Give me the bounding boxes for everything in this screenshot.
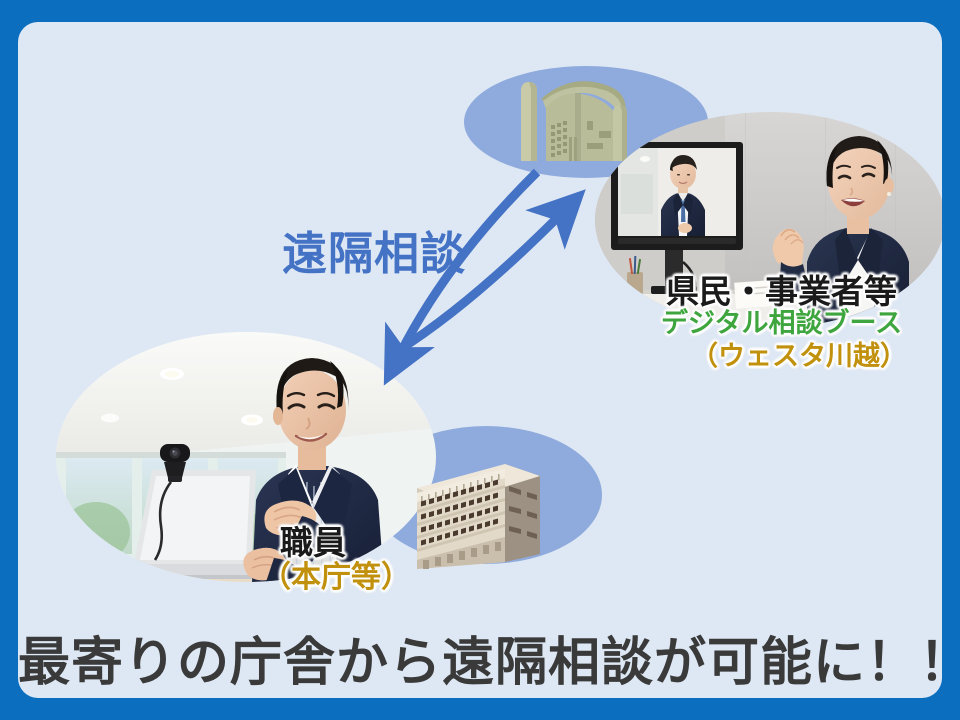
wesuta-kawagoe-label: （ウェスタ川越） bbox=[691, 342, 907, 370]
remote-consultation-label: 遠隔相談 bbox=[282, 230, 466, 277]
staff-label: 職員 bbox=[280, 526, 346, 561]
wesuta-kawagoe-building-icon bbox=[513, 69, 639, 164]
slide-panel: 遠隔相談 県民・事業者等 デジタル相談ブース （ウェスタ川越） 職員 （本庁等）… bbox=[18, 22, 942, 698]
digital-booth-label: デジタル相談ブース bbox=[661, 309, 902, 337]
slide-canvas: 遠隔相談 県民・事業者等 デジタル相談ブース （ウェスタ川越） 職員 （本庁等）… bbox=[0, 0, 960, 720]
staff-remote-consultation-photo bbox=[56, 332, 436, 582]
head-office-label: （本庁等） bbox=[261, 562, 411, 594]
citizens-businesses-label: 県民・事業者等 bbox=[666, 275, 897, 310]
bottom-headline: 最寄りの庁舎から遠隔相談が可能に！！ bbox=[18, 620, 942, 695]
government-office-building-icon bbox=[409, 450, 549, 576]
